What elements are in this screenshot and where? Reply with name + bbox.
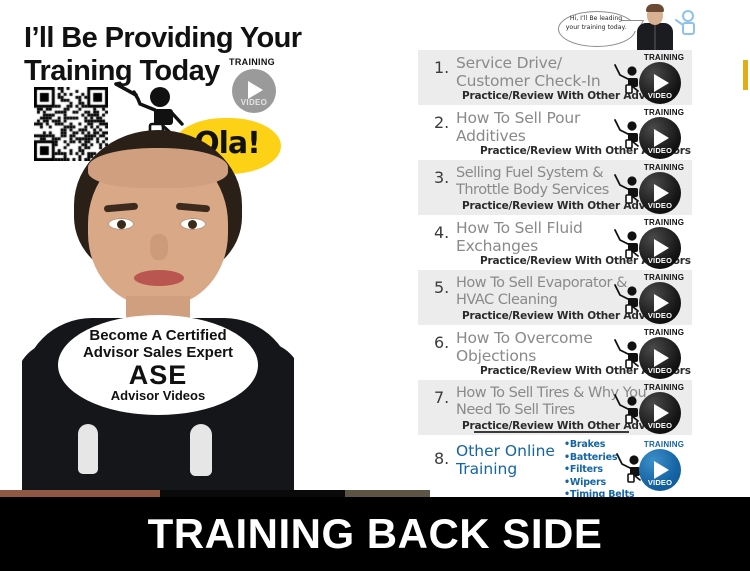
instructor-photo <box>22 130 294 490</box>
nose <box>150 234 168 260</box>
presenter-pointer-icon <box>674 8 696 40</box>
play-icon <box>654 294 669 312</box>
play-icon <box>654 129 669 147</box>
hand-right <box>190 424 212 476</box>
play-icon <box>654 74 669 92</box>
video-label: VIDEO <box>639 366 681 375</box>
ase-line-2: Advisor Sales Expert <box>83 344 233 361</box>
list-item[interactable]: 1.Service Drive/Customer Check-InPractic… <box>418 50 692 105</box>
list-item[interactable]: 3.Selling Fuel System &Throttle Body Ser… <box>418 160 692 215</box>
list-item[interactable]: 4.How To Sell FluidExchangesPractice/Rev… <box>418 215 692 270</box>
video-play-button[interactable]: TRAININGVIDEO <box>634 54 688 104</box>
pupil-right <box>188 220 197 229</box>
training-label: TRAINING <box>640 108 688 117</box>
list-item[interactable]: 2.How To Sell PourAdditivesPractice/Revi… <box>418 105 692 160</box>
list-item[interactable]: 6.How To OvercomeObjectionsPractice/Revi… <box>418 325 692 380</box>
list-item[interactable]: 8.Other OnlineTraining•Brakes•Batteries•… <box>418 435 692 497</box>
jacket-zipper <box>654 25 656 50</box>
banner-text: TRAINING BACK SIDE <box>148 510 603 558</box>
training-label: TRAINING <box>640 273 688 282</box>
forehead-shade <box>88 148 228 188</box>
poster-canvas: I’ll Be Providing Your Training Today TR… <box>0 0 750 571</box>
video-label: VIDEO <box>639 421 681 430</box>
list-item-number: 2. <box>434 113 449 132</box>
left-panel: I’ll Be Providing Your Training Today TR… <box>0 0 410 497</box>
training-video-badge[interactable]: TRAINING VIDEO <box>224 57 280 115</box>
play-icon <box>248 81 263 99</box>
video-play-button[interactable]: TRAININGVIDEO <box>634 164 688 214</box>
list-item-number: 1. <box>434 58 449 77</box>
bottom-banner: TRAINING BACK SIDE <box>0 497 750 571</box>
ase-acronym: ASE <box>129 362 188 389</box>
play-icon <box>654 461 669 479</box>
pupil-left <box>117 220 126 229</box>
list-item[interactable]: 5.How To Sell Evaporator &HVAC CleaningP… <box>418 270 692 325</box>
list-item-number: 7. <box>434 388 449 407</box>
training-label: TRAINING <box>224 57 280 67</box>
video-label: VIDEO <box>639 91 681 100</box>
video-play-button[interactable]: TRAININGVIDEO <box>634 219 688 269</box>
video-label: VIDEO <box>639 256 681 265</box>
list-item-number: 6. <box>434 333 449 352</box>
presenter-speech-bubble: Hi, I’ll Be leading your training today. <box>558 11 634 45</box>
section-divider <box>474 431 629 433</box>
list-item-title: Other OnlineTraining <box>456 443 566 478</box>
presenter-bubble-text: Hi, I’ll Be leading your training today. <box>562 15 630 33</box>
list-item-number: 3. <box>434 168 449 187</box>
list-item-number: 4. <box>434 223 449 242</box>
training-video-list: 1.Service Drive/Customer Check-InPractic… <box>418 50 692 497</box>
play-icon <box>654 349 669 367</box>
presenter-avatar <box>636 2 674 50</box>
training-label: TRAINING <box>640 328 688 337</box>
video-play-button[interactable]: TRAININGVIDEO <box>634 274 688 324</box>
video-label: VIDEO <box>639 146 681 155</box>
training-label: TRAINING <box>640 440 688 449</box>
ase-line-1: Become A Certified <box>89 327 226 344</box>
training-label: TRAINING <box>640 163 688 172</box>
video-label: VIDEO <box>639 201 681 210</box>
lips <box>134 270 184 286</box>
play-icon <box>654 404 669 422</box>
yellow-edge-marker[interactable] <box>743 60 748 90</box>
video-label: VIDEO <box>639 311 681 320</box>
presenter-hair <box>646 4 664 12</box>
video-label: VIDEO <box>639 478 681 487</box>
video-label: VIDEO <box>232 98 276 107</box>
presenter-header: Hi, I’ll Be leading your training today. <box>558 2 693 50</box>
training-label: TRAINING <box>640 218 688 227</box>
training-label: TRAINING <box>640 53 688 62</box>
list-item-number: 8. <box>434 449 449 468</box>
list-item[interactable]: 7.How To Sell Tires & Why YouNeed To Sel… <box>418 380 692 435</box>
video-play-button[interactable]: TRAININGVIDEO <box>634 109 688 159</box>
ase-line-4: Advisor Videos <box>111 389 205 403</box>
training-label: TRAINING <box>640 383 688 392</box>
play-icon <box>654 184 669 202</box>
video-play-button[interactable]: TRAININGVIDEO <box>634 329 688 379</box>
video-play-button[interactable]: TRAININGVIDEO <box>634 384 688 434</box>
video-play-button[interactable]: TRAININGVIDEO <box>634 441 688 491</box>
headline-line-1: I’ll Be Providing Your <box>24 22 301 54</box>
ase-badge: Become A Certified Advisor Sales Expert … <box>58 315 258 415</box>
hand-left <box>78 424 98 474</box>
list-item-number: 5. <box>434 278 449 297</box>
play-icon <box>654 239 669 257</box>
